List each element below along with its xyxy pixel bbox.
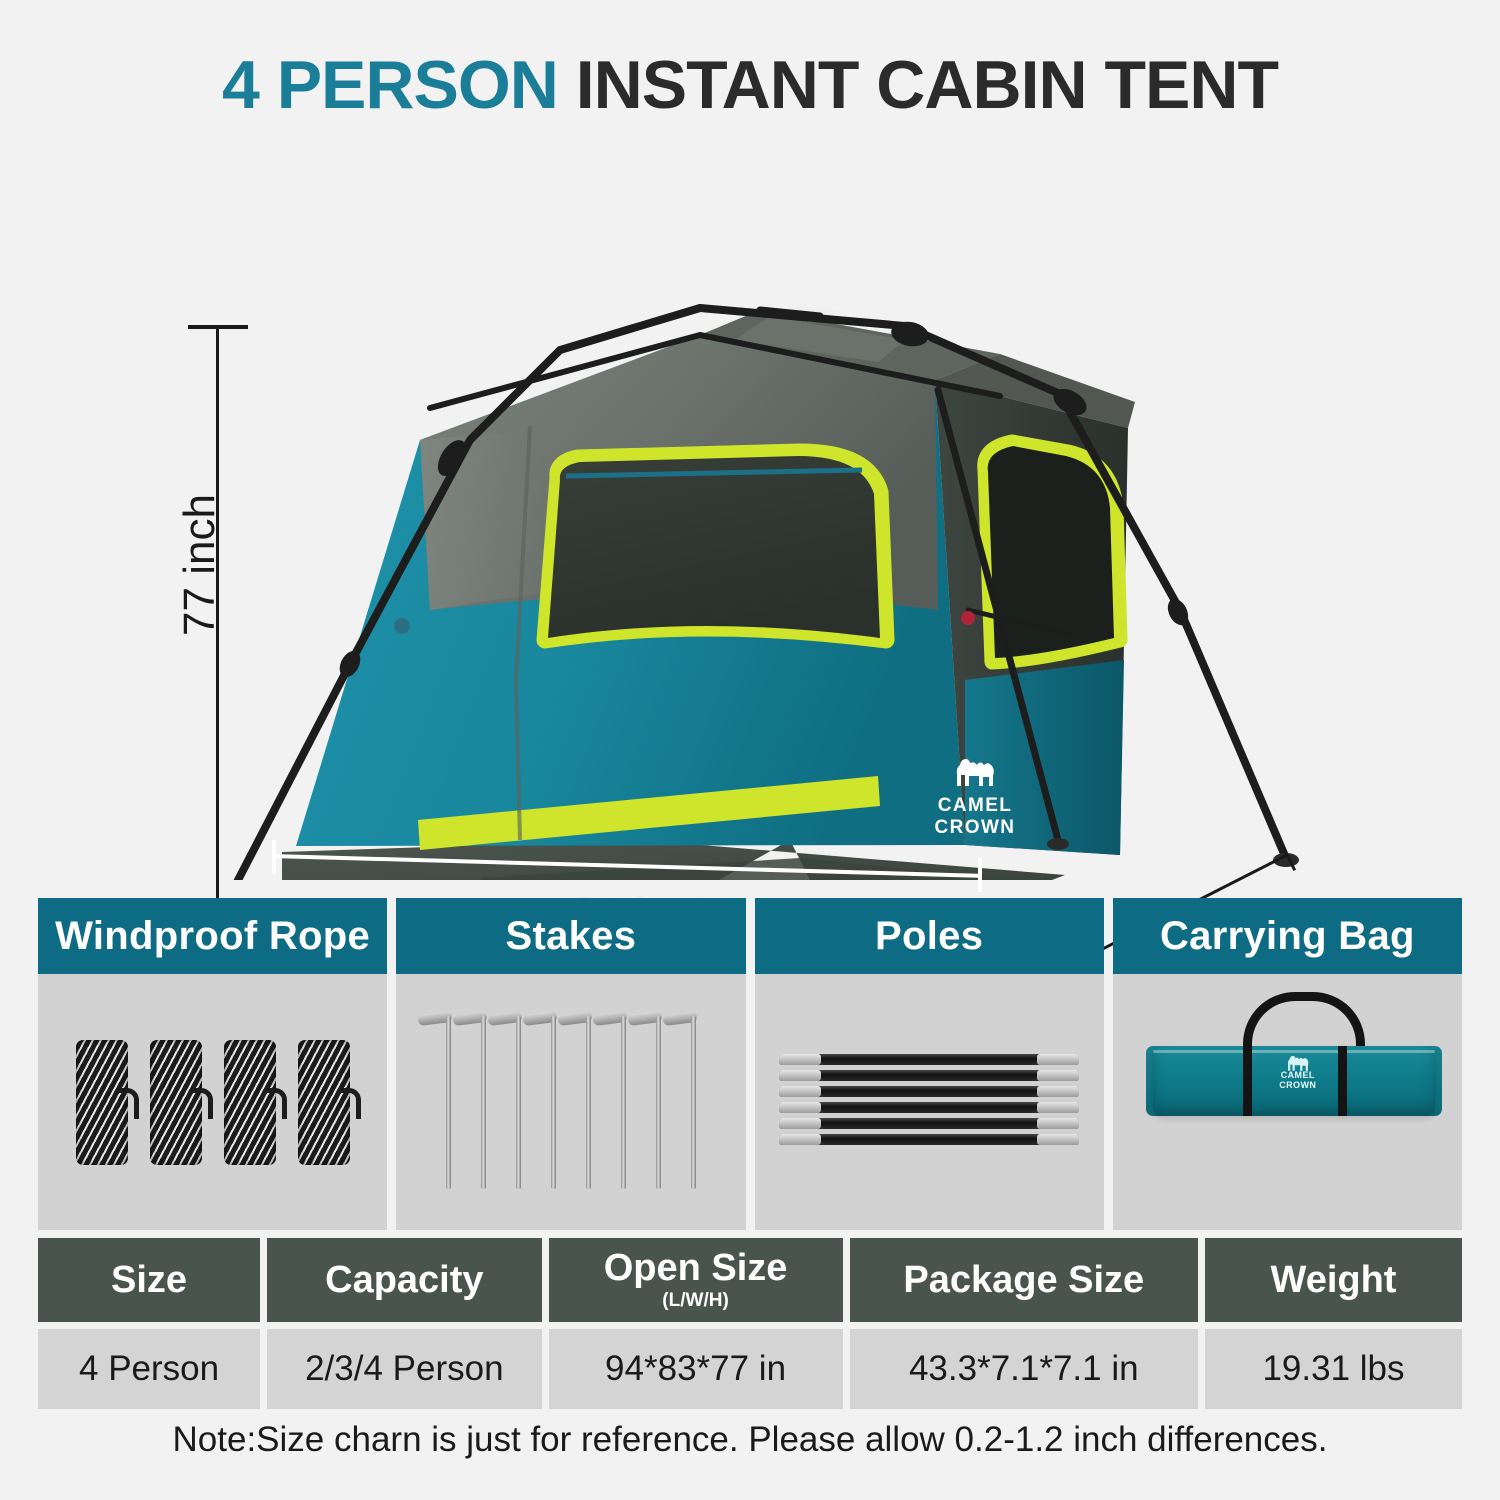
spec-header-label: Weight (1271, 1261, 1397, 1300)
side-window-mesh (988, 446, 1114, 658)
tent-stake (617, 1004, 629, 1189)
spec-header-label: Capacity (325, 1261, 483, 1300)
tent-stake (477, 1004, 489, 1189)
tent-poles (755, 974, 1104, 1230)
spec-value-size: 4 Person (38, 1329, 260, 1409)
bag-strap-right (1338, 1046, 1347, 1116)
rope-coil (76, 1040, 128, 1165)
bag-brand-text: CAMEL CROWN (1263, 1070, 1333, 1090)
tent-pole (779, 1070, 1079, 1081)
spec-table: Size Capacity Open Size (L/W/H) Package … (38, 1238, 1462, 1409)
accessory-art-poles (755, 974, 1104, 1230)
carrying-bag: CAMEL CROWN (1113, 974, 1462, 1230)
tent-stake (512, 1004, 524, 1189)
accessory-cell-poles: Poles (755, 898, 1104, 1230)
accessories-grid: Windproof Rope Stakes (38, 898, 1462, 1230)
accessory-header-windproof-rope: Windproof Rope (38, 898, 387, 974)
accessory-header-poles: Poles (755, 898, 1104, 974)
spec-value-package-size: 43.3*7.1*7.1 in (850, 1329, 1198, 1409)
tent-pole (779, 1118, 1079, 1129)
camel-icon (947, 752, 1003, 792)
rope-coil (150, 1040, 202, 1165)
rope-coil (224, 1040, 276, 1165)
tent-brand-text: CAMEL CROWN (900, 795, 1050, 839)
spec-header-package-size: Package Size (850, 1238, 1198, 1322)
accessory-cell-windproof-rope: Windproof Rope (38, 898, 387, 1230)
page-title: 4 PERSON INSTANT CABIN TENT (0, 46, 1500, 124)
title-rest: INSTANT CABIN TENT (558, 47, 1278, 123)
spec-header-size: Size (38, 1238, 260, 1322)
spec-header-sublabel: (L/W/H) (662, 1291, 728, 1310)
width-dim-cap-right (978, 858, 982, 892)
hero-product-image: CAMEL CROWN 77 inch 94 inch 83 inch (0, 140, 1500, 880)
spec-header-label: Size (111, 1261, 187, 1300)
tent-stake (652, 1004, 664, 1189)
accessory-art-windproof-rope (38, 974, 387, 1230)
size-note: Note:Size charn is just for reference. P… (0, 1420, 1500, 1460)
spec-header-weight: Weight (1205, 1238, 1462, 1322)
tent-brand-logo: CAMEL CROWN (900, 752, 1050, 839)
spec-header-label: Package Size (903, 1261, 1144, 1300)
accessory-cell-stakes: Stakes (396, 898, 745, 1230)
tent-pole (779, 1054, 1079, 1065)
accessory-art-stakes (396, 974, 745, 1230)
tent-pole (779, 1134, 1079, 1145)
product-infographic: 4 PERSON INSTANT CABIN TENT (0, 0, 1500, 1500)
accessory-header-carrying-bag: Carrying Bag (1113, 898, 1462, 974)
spec-value-weight: 19.31 lbs (1205, 1329, 1462, 1409)
tent-stake (687, 1004, 699, 1189)
spec-header-label: Open Size (604, 1249, 788, 1288)
spec-value-open-size: 94*83*77 in (549, 1329, 843, 1409)
accessory-art-carrying-bag: CAMEL CROWN (1113, 974, 1462, 1230)
accessory-header-stakes: Stakes (396, 898, 745, 974)
rope-coils (38, 974, 387, 1230)
height-dim-label: 77 inch (175, 485, 225, 645)
spec-value-capacity: 2/3/4 Person (267, 1329, 541, 1409)
tent-svg (0, 140, 1500, 880)
spec-header-open-size: Open Size (L/W/H) (549, 1238, 843, 1322)
tent-stake (582, 1004, 594, 1189)
title-highlight: 4 PERSON (222, 47, 558, 123)
tent-pole (779, 1102, 1079, 1113)
tent-stakes (396, 974, 745, 1230)
tent-pole (779, 1086, 1079, 1097)
tent-stake (442, 1004, 454, 1189)
spec-header-capacity: Capacity (267, 1238, 541, 1322)
rope-coil (298, 1040, 350, 1165)
accessory-cell-carrying-bag: Carrying Bag CAMEL CROWN (1113, 898, 1462, 1230)
front-window-mesh (548, 456, 880, 638)
tent-illustration: CAMEL CROWN (0, 140, 1500, 880)
tent-stake (547, 1004, 559, 1189)
bag-strap-left (1243, 1046, 1252, 1116)
